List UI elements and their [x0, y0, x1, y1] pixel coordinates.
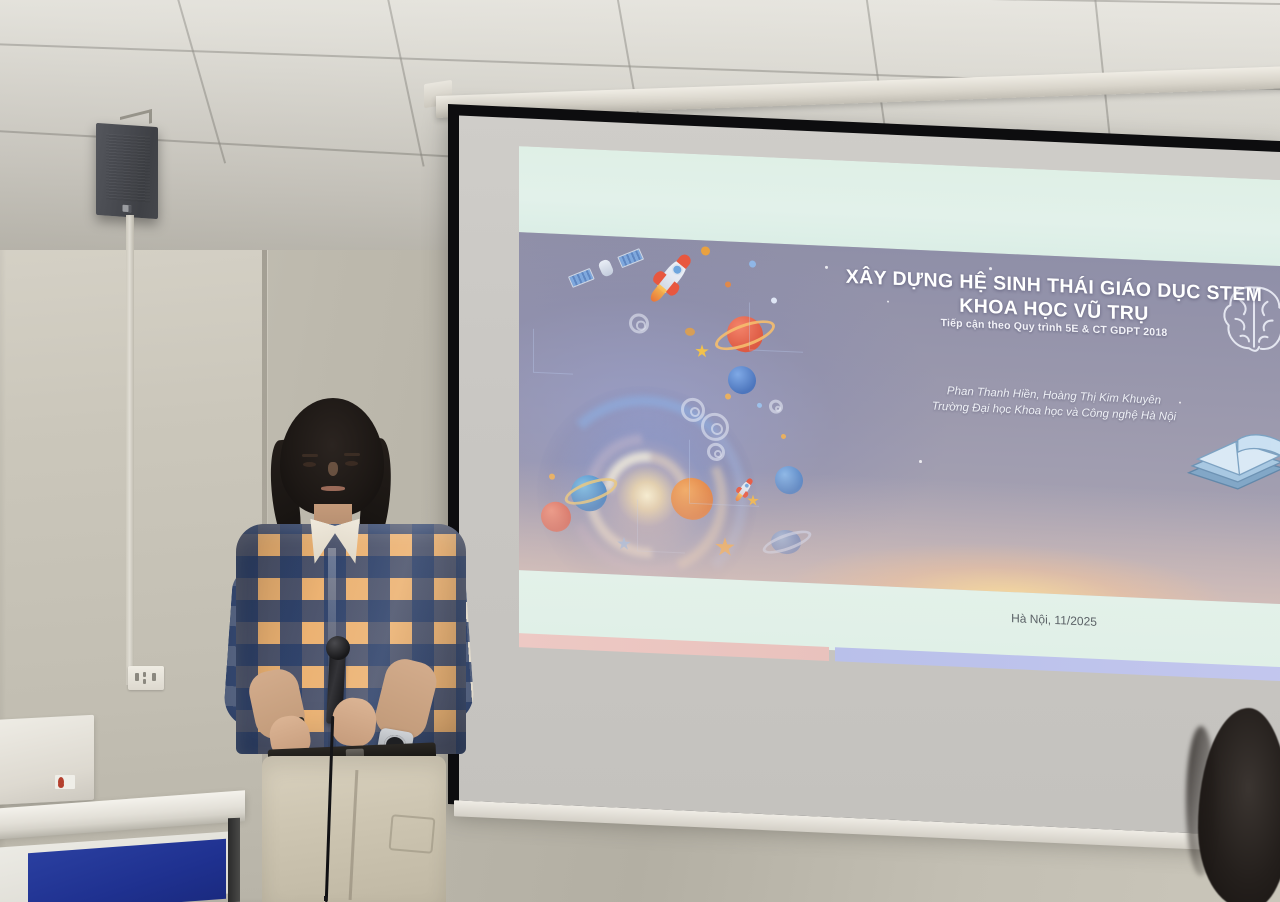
circuit-trace	[749, 302, 803, 352]
satellite-panel	[568, 268, 595, 288]
microphone-cable-end	[324, 896, 327, 901]
power-outlet[interactable]	[128, 666, 164, 690]
space-dot	[757, 403, 762, 408]
satellite-icon	[591, 256, 621, 280]
cargo-pocket	[389, 814, 436, 854]
hair-top	[280, 398, 384, 516]
space-dot	[725, 393, 731, 399]
speaker-logo	[123, 205, 132, 213]
speaker-grill	[106, 134, 150, 203]
satellite-panel	[617, 248, 644, 268]
rocket-fin	[666, 281, 682, 298]
space-dot	[701, 246, 710, 255]
star-icon	[695, 344, 709, 359]
nose	[328, 462, 338, 476]
gear-icon	[769, 399, 783, 414]
wall-speaker	[96, 123, 158, 219]
tiny-star	[989, 267, 992, 270]
outlet-slot	[143, 672, 146, 677]
eyebrow	[302, 454, 318, 457]
gear-icon	[681, 397, 705, 422]
outlet-slot	[152, 673, 156, 681]
eyebrow	[344, 453, 360, 456]
rocket-flame	[648, 284, 667, 304]
eye	[303, 462, 316, 467]
planet-icon	[728, 365, 756, 394]
circuit-trace	[533, 329, 573, 375]
presenter	[228, 398, 472, 902]
presentation-photo-scene: XÂY DỰNG HỆ SINH THÁI GIÁO DỤC STEM KHOA…	[0, 0, 1280, 902]
wall-conduit	[126, 215, 134, 685]
eye	[345, 461, 358, 466]
satellite-body	[597, 258, 614, 277]
monitor-rear-panel	[0, 715, 94, 806]
gear-icon	[701, 412, 729, 441]
space-dot	[781, 434, 786, 439]
rocket-icon	[654, 255, 691, 296]
warning-sticker	[55, 775, 75, 789]
open-book-icon	[1181, 422, 1280, 497]
space-dot	[725, 281, 731, 287]
screen-surface: XÂY DỰNG HỆ SINH THÁI GIÁO DỤC STEM KHOA…	[459, 115, 1280, 837]
space-dot	[685, 328, 695, 336]
tiny-star	[919, 460, 922, 463]
gear-icon	[629, 313, 649, 334]
space-dot	[749, 260, 756, 267]
projection-screen: XÂY DỰNG HỆ SINH THÁI GIÁO DỤC STEM KHOA…	[448, 104, 1280, 851]
projected-slide: XÂY DỰNG HỆ SINH THÁI GIÁO DỤC STEM KHOA…	[519, 146, 1280, 701]
mouth	[321, 486, 345, 491]
outlet-slot	[135, 673, 139, 681]
outlet-slot	[143, 679, 146, 684]
